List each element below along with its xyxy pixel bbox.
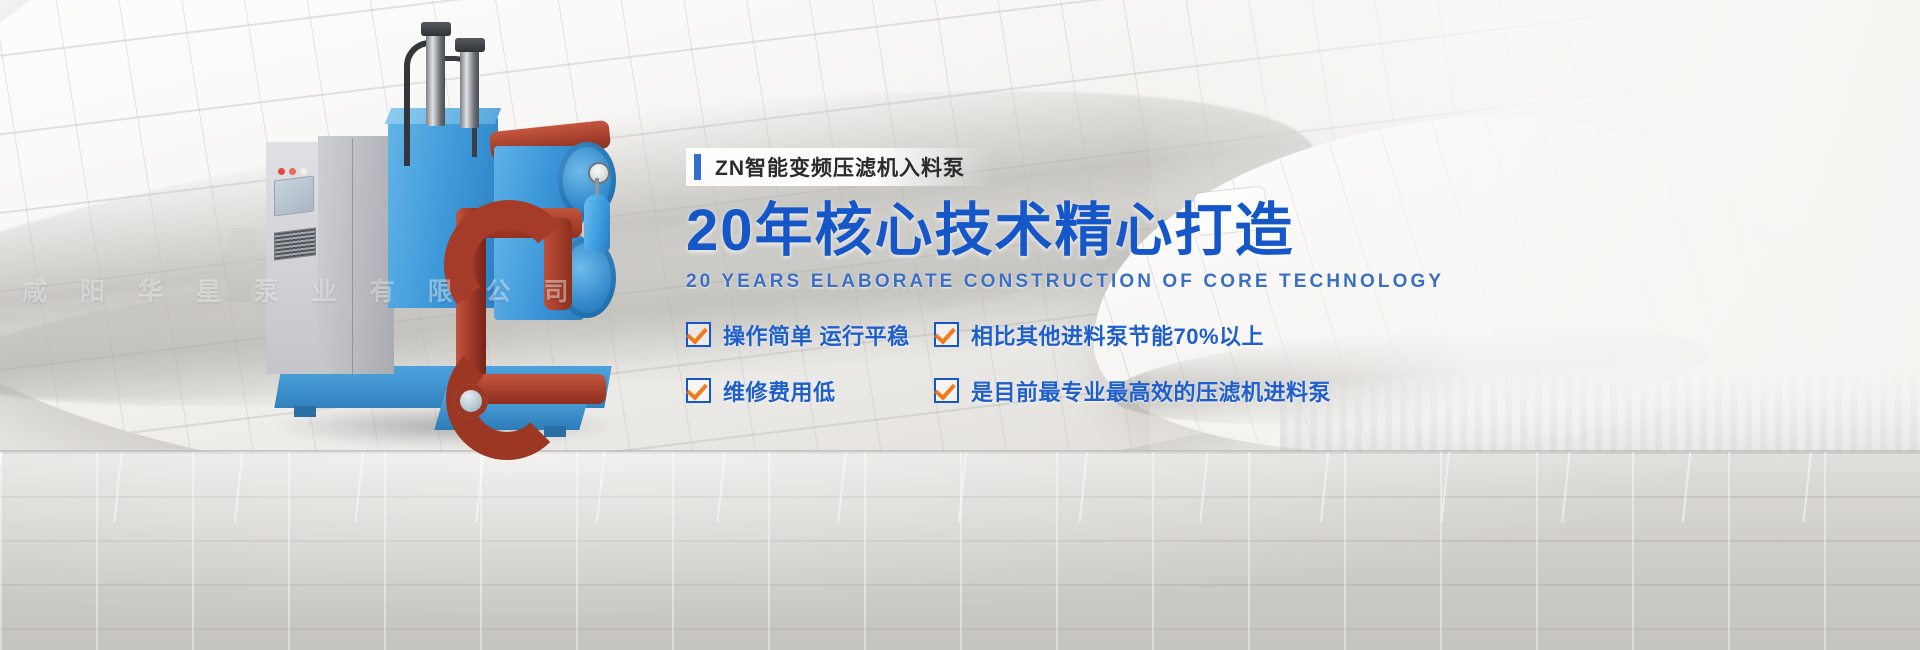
check-icon xyxy=(934,322,959,347)
cabinet-seam xyxy=(352,138,353,374)
feature-label: 维修费用低 xyxy=(723,375,836,407)
cabinet-hmi-screen xyxy=(274,176,314,217)
feature-label: 相比其他进料泵节能70%以上 xyxy=(971,319,1264,351)
pipe-outlet xyxy=(454,384,488,418)
feature-item-2: 相比其他进料泵节能70%以上 xyxy=(934,319,1264,351)
floor-highlight xyxy=(0,452,1920,650)
feature-row: 操作简单 运行平稳 相比其他进料泵节能70%以上 xyxy=(686,319,1326,351)
subheadline: 20 YEARS ELABORATE CONSTRUCTION OF CORE … xyxy=(686,271,1806,293)
product-image xyxy=(258,22,678,442)
machine-foot xyxy=(294,406,316,417)
feature-label: 操作简单 运行平稳 xyxy=(723,319,910,351)
pressure-gauge-icon xyxy=(588,162,610,184)
banner-content: ZN智能变频压滤机入料泵 20年核心技术精心打造 20 YEARS ELABOR… xyxy=(686,148,1806,431)
cabinet-button-orange xyxy=(289,168,296,175)
cabinet-button-white xyxy=(300,168,307,175)
product-tag: ZN智能变频压滤机入料泵 xyxy=(686,148,991,186)
check-icon xyxy=(934,378,959,403)
cylinder-cap xyxy=(421,22,451,36)
feature-label: 是目前最专业最高效的压滤机进料泵 xyxy=(971,375,1331,407)
cabinet-side-panel xyxy=(318,136,394,374)
plaza-floor xyxy=(0,452,1920,650)
hydraulic-cylinder xyxy=(426,30,445,126)
check-icon xyxy=(686,322,711,347)
tag-accent-bar xyxy=(694,154,701,180)
cabinet-nameplate xyxy=(274,227,316,260)
control-cabinet xyxy=(266,142,394,374)
cabinet-button-red xyxy=(278,168,285,175)
feature-list: 操作简单 运行平稳 相比其他进料泵节能70%以上 维修费用低 是目前最专业最高效… xyxy=(686,319,1326,407)
hero-banner: 咸 阳 华 星 泵 业 有 限 公 司 ZN智能变频压滤机入料泵 20年核心技术… xyxy=(0,0,1920,650)
accumulator-bottle xyxy=(584,194,610,252)
feature-row: 维修费用低 是目前最专业最高效的压滤机进料泵 xyxy=(686,375,1326,407)
feature-item-4: 是目前最专业最高效的压滤机进料泵 xyxy=(934,375,1331,407)
check-icon xyxy=(686,378,711,403)
tag-label: ZN智能变频压滤机入料泵 xyxy=(715,152,965,182)
feature-item-3: 维修费用低 xyxy=(686,375,934,407)
headline: 20年核心技术精心打造 xyxy=(686,200,1806,263)
cylinder-cap xyxy=(455,38,485,52)
hydraulic-cylinder xyxy=(460,46,479,128)
feature-item-1: 操作简单 运行平稳 xyxy=(686,319,934,351)
